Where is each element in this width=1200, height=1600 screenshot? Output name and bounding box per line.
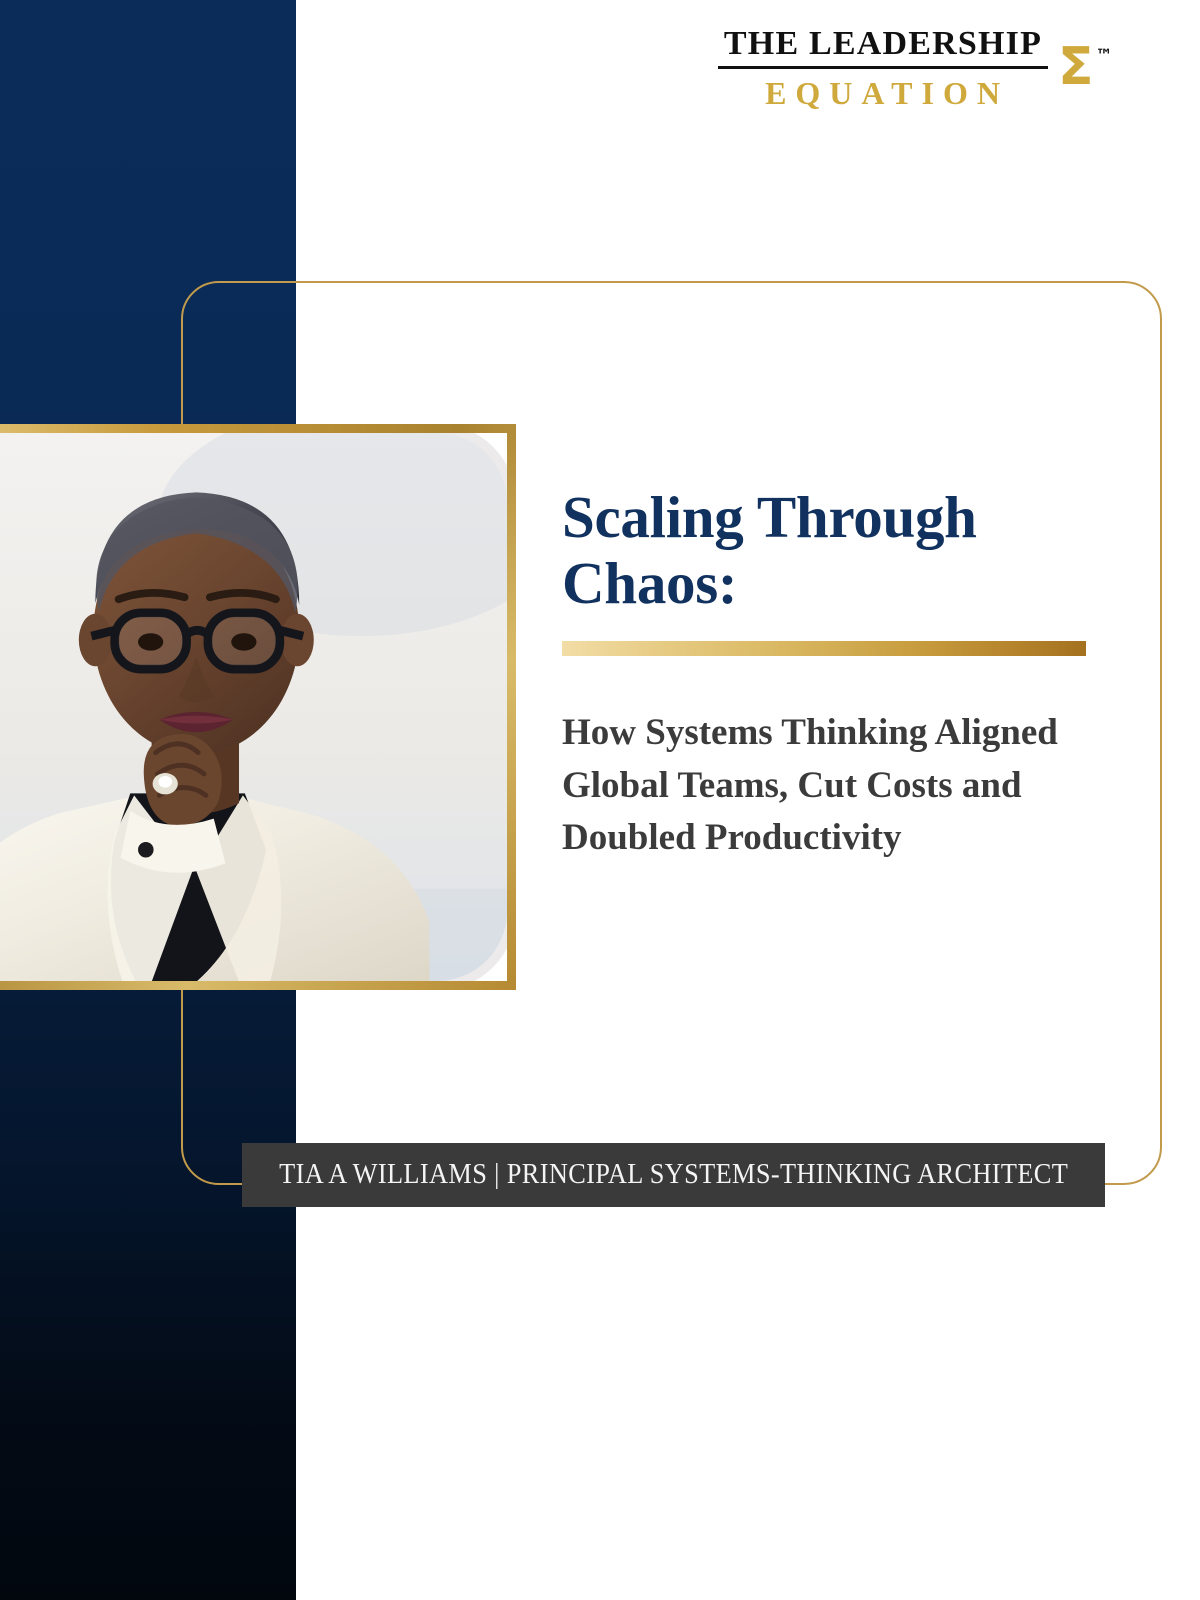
logo-fraction-bar (718, 66, 1048, 69)
brand-logo: THE LEADERSHIP EQUATION Σ ™ (718, 26, 1138, 136)
logo-denominator-text: EQUATION (757, 77, 1009, 111)
author-credit-text: TIA A WILLIAMS | PRINCIPAL SYSTEMS-THINK… (279, 1159, 1068, 1191)
speaker-portrait (0, 424, 516, 990)
trademark-icon: ™ (1096, 46, 1113, 66)
logo-numerator-text: THE LEADERSHIP (724, 26, 1042, 63)
gold-divider-bar (562, 641, 1086, 656)
sigma-icon: Σ (1058, 44, 1094, 91)
page-subtitle: How Systems Thinking Aligned Global Team… (562, 707, 1092, 865)
portrait-illustration (0, 433, 507, 981)
logo-sigma-group: Σ ™ (1058, 44, 1113, 91)
page-title: Scaling Through Chaos: (562, 484, 1102, 616)
author-credit-bar: TIA A WILLIAMS | PRINCIPAL SYSTEMS-THINK… (242, 1143, 1105, 1207)
cover-page: THE LEADERSHIP EQUATION Σ ™ (0, 0, 1200, 1600)
portrait-image (0, 433, 507, 981)
logo-fraction: THE LEADERSHIP EQUATION (718, 26, 1048, 110)
